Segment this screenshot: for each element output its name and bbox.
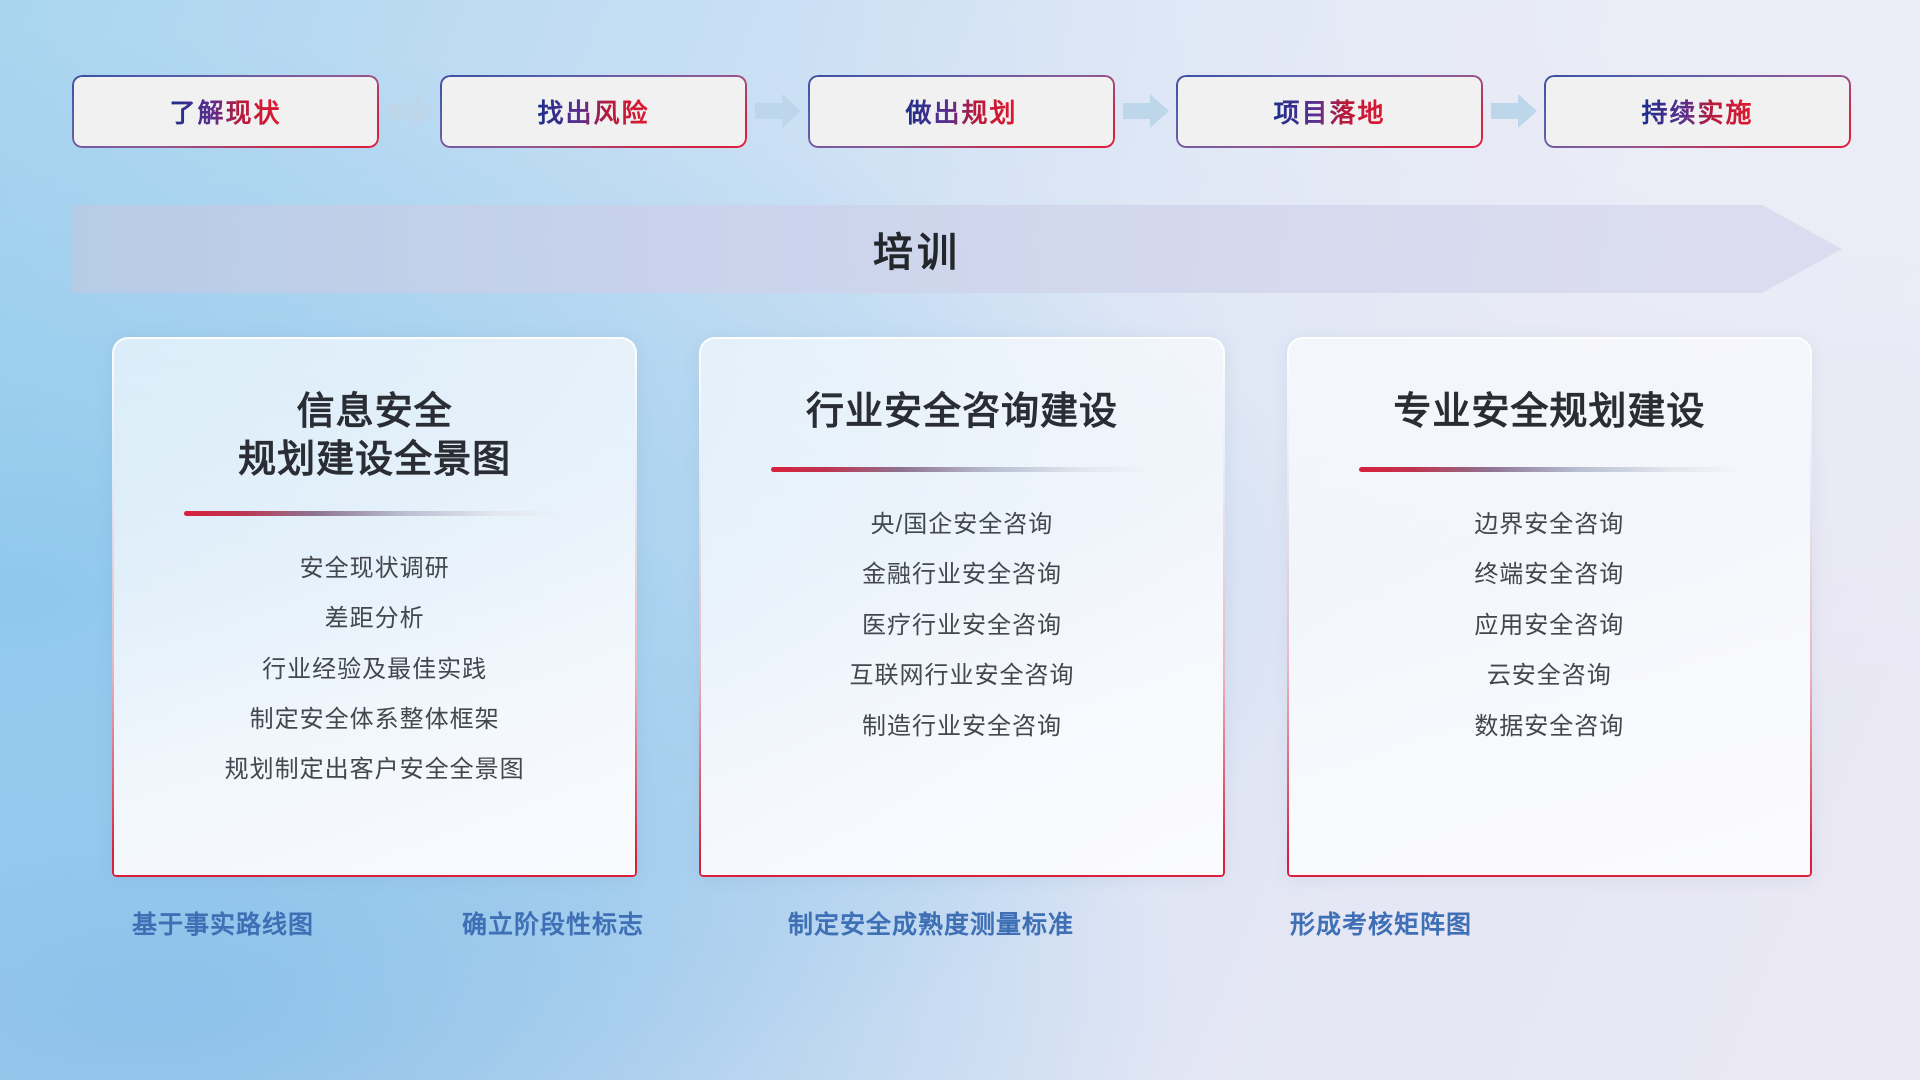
card-list: 安全现状调研 差距分析 行业经验及最佳实践 制定安全体系整体框架 规划制定出客户…	[225, 550, 525, 790]
footer-label: 形成考核矩阵图	[1290, 905, 1472, 941]
list-item: 终端安全咨询	[1474, 556, 1624, 594]
card-divider	[1359, 467, 1741, 472]
process-step-row: 了解现状 找出风险 做出规划 项目落地	[72, 72, 1848, 150]
card-professional-security-planning[interactable]: 专业安全规划建设 边界安全咨询 终端安全咨询 应用安全咨询 云安全咨询 数据安全…	[1287, 337, 1812, 877]
list-item: 制定安全体系整体框架	[250, 701, 500, 739]
process-step-4[interactable]: 项目落地	[1176, 75, 1483, 148]
list-item: 应用安全咨询	[1474, 607, 1624, 645]
slide-canvas: 了解现状 找出风险 做出规划 项目落地	[0, 0, 1920, 1080]
card-list: 央/国企安全咨询 金融行业安全咨询 医疗行业安全咨询 互联网行业安全咨询 制造行…	[849, 506, 1074, 746]
process-step-3[interactable]: 做出规划	[808, 75, 1115, 148]
card-title: 行业安全咨询建设	[806, 389, 1118, 441]
footer-label: 基于事实路线图	[132, 905, 314, 941]
process-step-label: 持续实施	[1641, 93, 1753, 130]
arrow-right-icon	[1115, 91, 1176, 131]
list-item: 央/国企安全咨询	[871, 506, 1054, 544]
process-step-1[interactable]: 了解现状	[72, 75, 379, 148]
card-industry-security-consulting[interactable]: 行业安全咨询建设 央/国企安全咨询 金融行业安全咨询 医疗行业安全咨询 互联网行…	[699, 337, 1224, 877]
list-item: 差距分析	[325, 600, 425, 638]
list-item: 制造行业安全咨询	[862, 708, 1062, 746]
process-step-label: 了解现状	[169, 93, 281, 130]
card-title: 信息安全 规划建设全景图	[238, 389, 511, 485]
process-step-label: 做出规划	[905, 93, 1017, 130]
card-information-security-blueprint[interactable]: 信息安全 规划建设全景图 安全现状调研 差距分析 行业经验及最佳实践 制定安全体…	[112, 337, 637, 877]
list-item: 安全现状调研	[300, 550, 450, 588]
arrow-right-icon	[747, 91, 808, 131]
card-row: 信息安全 规划建设全景图 安全现状调研 差距分析 行业经验及最佳实践 制定安全体…	[112, 337, 1812, 877]
list-item: 数据安全咨询	[1474, 708, 1624, 746]
footer-label-row: 基于事实路线图 确立阶段性标志 制定安全成熟度测量标准 形成考核矩阵图	[0, 905, 1920, 955]
process-step-5[interactable]: 持续实施	[1544, 75, 1851, 148]
card-list: 边界安全咨询 终端安全咨询 应用安全咨询 云安全咨询 数据安全咨询	[1474, 506, 1624, 746]
process-step-2[interactable]: 找出风险	[440, 75, 747, 148]
process-step-label: 项目落地	[1273, 93, 1385, 130]
training-banner: 培训	[72, 205, 1842, 293]
process-step-label: 找出风险	[537, 93, 649, 130]
list-item: 医疗行业安全咨询	[862, 607, 1062, 645]
footer-label: 确立阶段性标志	[462, 905, 644, 941]
arrow-right-icon	[379, 91, 440, 131]
list-item: 云安全咨询	[1487, 657, 1612, 695]
footer-label: 制定安全成熟度测量标准	[788, 905, 1074, 941]
list-item: 金融行业安全咨询	[862, 556, 1062, 594]
card-divider	[184, 511, 566, 516]
list-item: 规划制定出客户安全全景图	[225, 751, 525, 789]
list-item: 互联网行业安全咨询	[849, 657, 1074, 695]
banner-title: 培训	[72, 205, 1762, 293]
arrow-right-icon	[1483, 91, 1544, 131]
card-divider	[771, 467, 1153, 472]
list-item: 边界安全咨询	[1474, 506, 1624, 544]
list-item: 行业经验及最佳实践	[262, 651, 487, 689]
card-title: 专业安全规划建设	[1393, 389, 1705, 441]
